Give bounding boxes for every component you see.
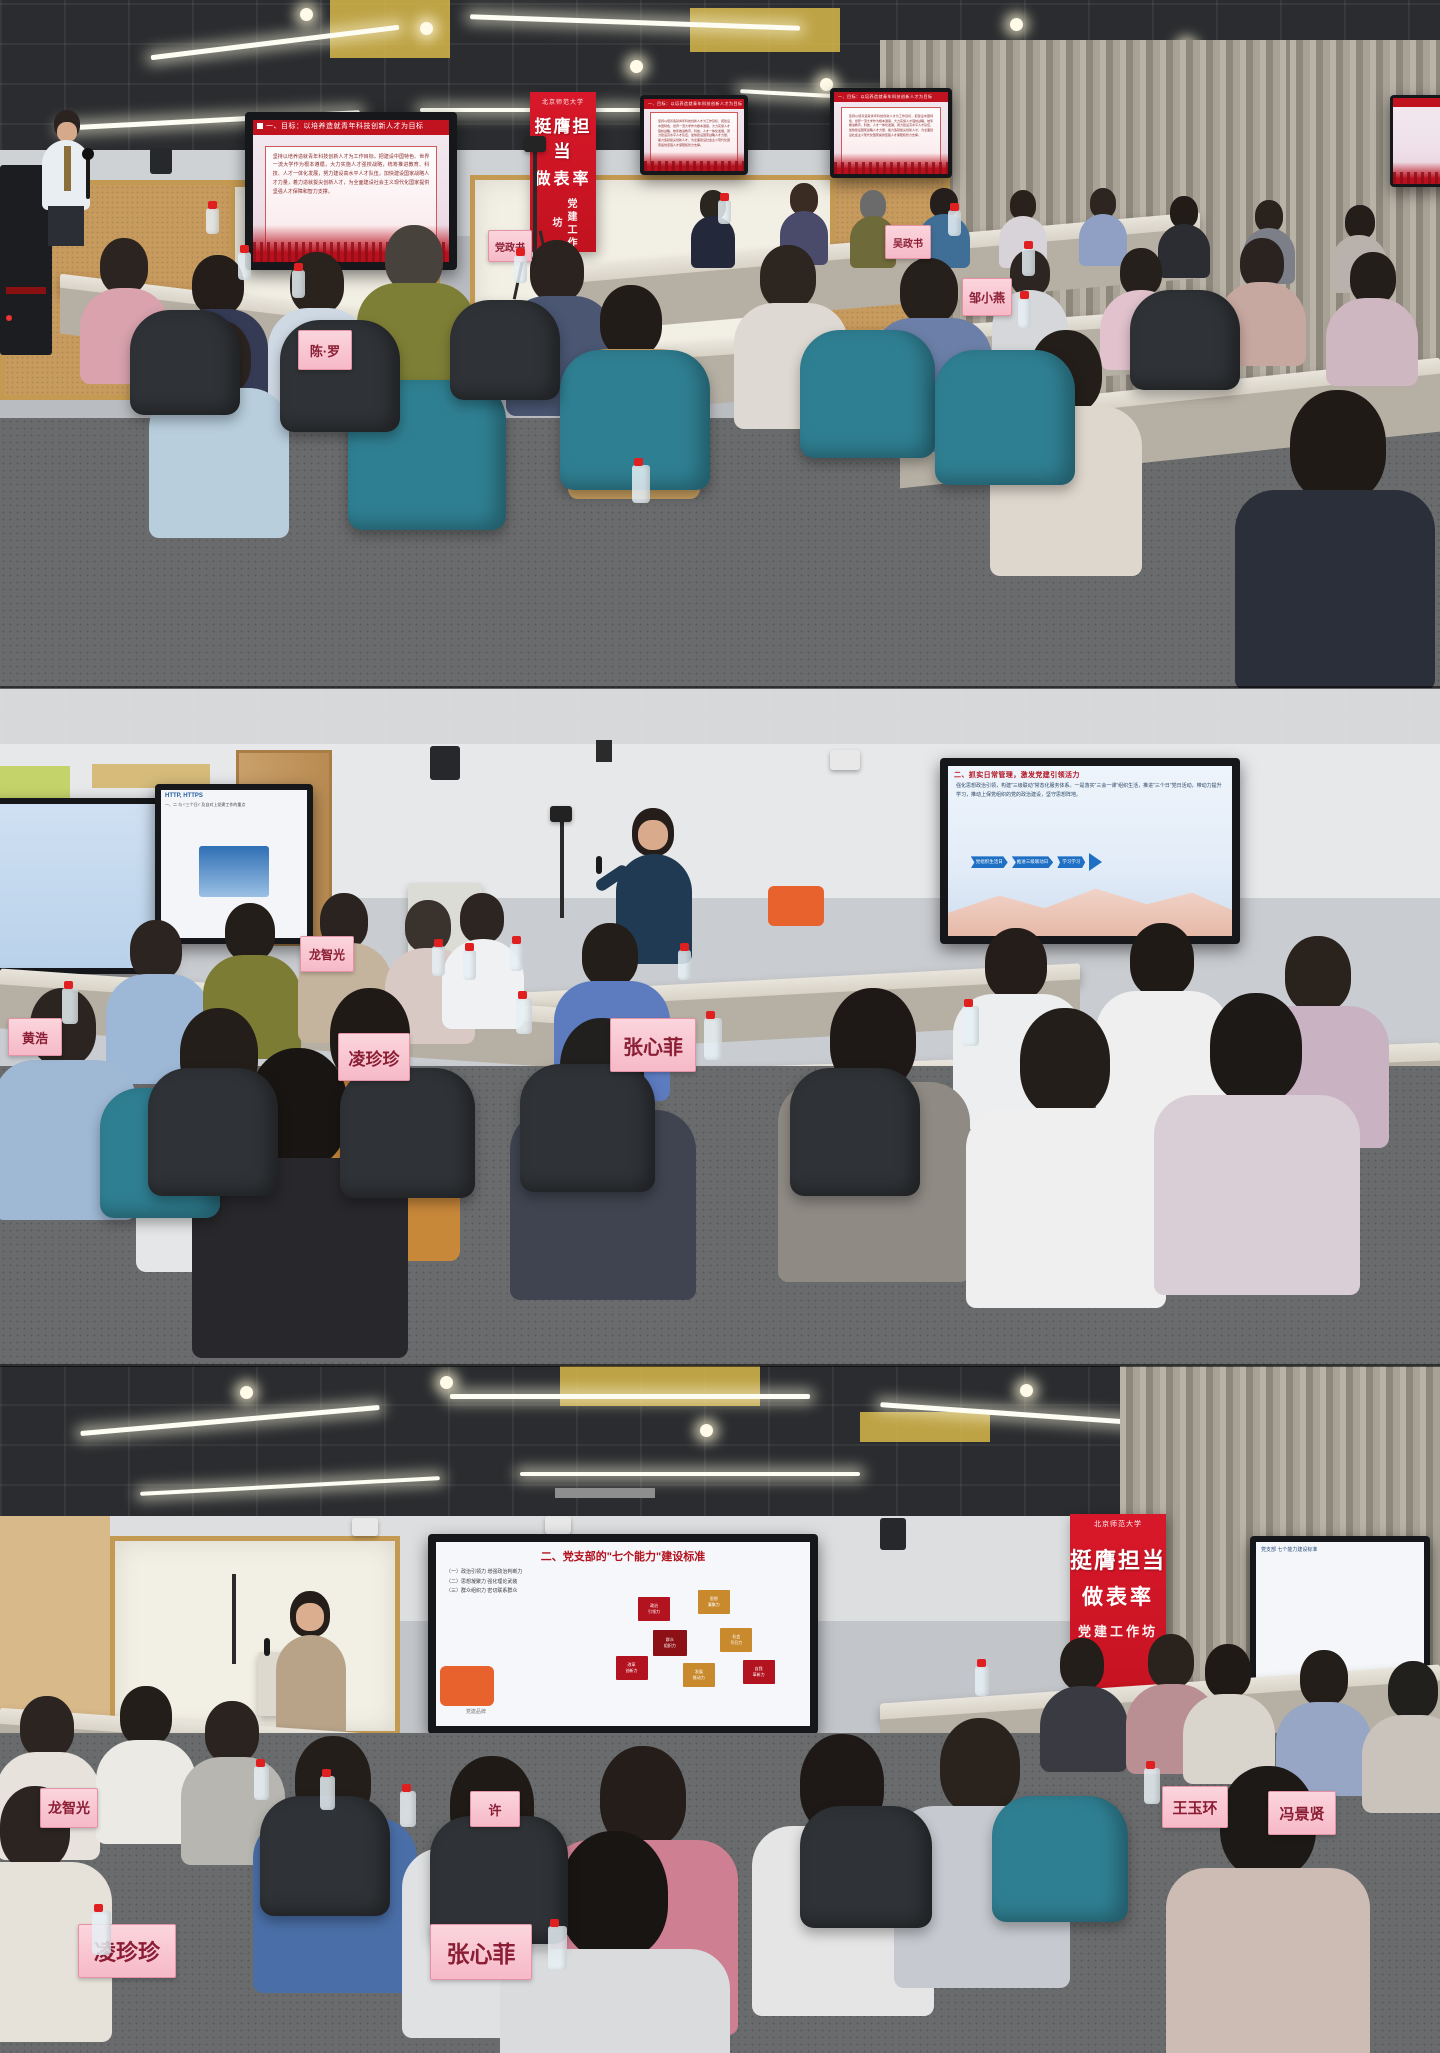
- side-display-1: 一、目标：以培养造就青年科技创新人才为目标 坚持以培养造就青年科技创新人才为工作…: [640, 95, 748, 175]
- microphone: [596, 856, 602, 874]
- water-bottle: [254, 1766, 269, 1800]
- chair: [260, 1796, 390, 1916]
- chair: [1130, 290, 1240, 390]
- flow-step: 推进三级联动日: [1012, 856, 1054, 868]
- microphone: [264, 1638, 270, 1656]
- side-display-3: [1390, 95, 1440, 187]
- water-bottle: [206, 208, 219, 234]
- chair: [800, 330, 935, 458]
- nametag: 许: [470, 1791, 520, 1827]
- capability-node: 政治 引领力: [638, 1597, 670, 1621]
- water-bottle: [238, 252, 251, 280]
- chair: [800, 1806, 932, 1928]
- tripod: [232, 1574, 236, 1664]
- presenter: [272, 1591, 352, 1741]
- slide-title: 二、党支部的"七个能力"建设标准: [436, 1542, 810, 1566]
- camera-icon: [352, 1518, 378, 1536]
- speaker-icon: [430, 746, 460, 780]
- event-banner: 北京师范大学 挺膺担当 做表率 党建工作坊: [530, 92, 596, 252]
- chair: [992, 1796, 1128, 1922]
- photo-collage: 一、目标：以培养造就青年科技创新人才为目标 坚持以培养造就青年科技创新人才为工作…: [0, 0, 1440, 2053]
- nametag: 邹小燕: [962, 278, 1012, 316]
- main-display: 二、抓实日常管理，激发党建引领活力 强化思想政治引领，构建"三级联动"常态化服务…: [940, 758, 1240, 944]
- water-bottle: [432, 946, 445, 976]
- speaker-icon: [880, 1518, 906, 1550]
- camera-icon: [830, 750, 860, 770]
- water-bottle: [62, 988, 78, 1024]
- capability-node: 思想 凝聚力: [698, 1590, 730, 1614]
- water-bottle: [975, 1666, 989, 1696]
- capability-node: 发展 推动力: [683, 1663, 715, 1687]
- water-bottle: [463, 950, 476, 980]
- wall-sign: [555, 1488, 655, 1498]
- water-bottle: [962, 1006, 979, 1046]
- panel-bottom: 二、党支部的"七个能力"建设标准 （一）政治引领力 增强政治判断力 （二）思想凝…: [0, 1366, 1440, 2053]
- ceiling-camera-icon: [596, 740, 612, 762]
- water-bottle: [1144, 1768, 1160, 1804]
- nametag: 龙智光: [300, 936, 354, 972]
- capability-node: 群众 组织力: [653, 1630, 687, 1656]
- water-bottle: [948, 210, 961, 236]
- flow-step: 党组织生活日: [971, 856, 1008, 868]
- water-bottle: [320, 1776, 335, 1810]
- water-bottle: [704, 1018, 722, 1060]
- video-camera-icon: [524, 136, 546, 152]
- tripod: [560, 818, 564, 918]
- slide-body: 强化思想政治引领，构建"三级联动"常态化服务体系。一是落实"三会一课"组织生活，…: [948, 782, 1232, 799]
- nametag: 冯景贤: [1268, 1791, 1336, 1835]
- panel-divider: [0, 686, 1440, 689]
- camera-icon: [545, 1516, 571, 1534]
- water-bottle: [516, 998, 532, 1034]
- orange-chair: [768, 886, 824, 926]
- capability-node: 自我 革新力: [743, 1660, 775, 1684]
- capability-node: 改革 创新力: [616, 1656, 648, 1680]
- water-bottle: [510, 943, 523, 971]
- water-bottle: [548, 1926, 567, 1970]
- chair: [450, 300, 560, 400]
- tripod: [533, 148, 537, 258]
- water-bottle: [632, 465, 650, 503]
- flow-step: 学习学习: [1057, 856, 1085, 868]
- nametag: 陈·罗: [298, 330, 352, 370]
- chair: [935, 350, 1075, 485]
- water-bottle: [678, 950, 691, 980]
- nametag: 龙智光: [40, 1788, 98, 1828]
- speaker-icon: [150, 148, 172, 174]
- slide-body: （一）政治引领力 增强政治判断力 （二）思想凝聚力 强化理论武装 （三）群众组织…: [436, 1566, 613, 1599]
- arrow-icon: [1089, 853, 1102, 871]
- microphone: [86, 155, 90, 199]
- water-bottle: [1018, 298, 1031, 328]
- panel-middle: HTTP, HTTPS 一、二 与 \"三个日\" 及自对上党建工作的重点 二、…: [0, 688, 1440, 1366]
- chair: [790, 1068, 920, 1196]
- video-camera-icon: [550, 806, 572, 822]
- chair: [130, 310, 240, 415]
- nametag: 黄浩: [8, 1018, 62, 1056]
- slide-title: 二、抓实日常管理，激发党建引领活力: [948, 766, 1232, 782]
- water-bottle: [514, 255, 527, 283]
- nametag: 吴政书: [885, 225, 931, 259]
- panel-top: 一、目标：以培养造就青年科技创新人才为目标 坚持以培养造就青年科技创新人才为工作…: [0, 0, 1440, 688]
- chair: [520, 1064, 655, 1192]
- slide-title: 一、目标：以培养造就青年科技创新人才为目标: [253, 120, 449, 135]
- nametag: 王玉环: [1162, 1786, 1228, 1828]
- orange-chair: [440, 1666, 494, 1706]
- capability-node: 社会 号召力: [720, 1628, 752, 1652]
- panel-divider: [0, 1364, 1440, 1367]
- water-bottle: [718, 200, 731, 224]
- water-bottle: [1022, 248, 1035, 276]
- nametag: 张心菲: [430, 1924, 532, 1980]
- nametag: 张心菲: [610, 1018, 696, 1072]
- water-bottle: [400, 1791, 416, 1827]
- side-display-2: 一、目标：以培养造就青年科技创新人才为目标 坚持以培养造就青年科技创新人才为工作…: [830, 88, 952, 178]
- chair: [148, 1068, 278, 1196]
- water-bottle: [92, 1911, 111, 1955]
- nametag: 凌珍珍: [338, 1033, 410, 1081]
- water-bottle: [292, 270, 305, 298]
- chair: [340, 1068, 475, 1198]
- slide-panel2: 二、抓实日常管理，激发党建引领活力 强化思想政治引领，构建"三级联动"常态化服务…: [948, 766, 1232, 936]
